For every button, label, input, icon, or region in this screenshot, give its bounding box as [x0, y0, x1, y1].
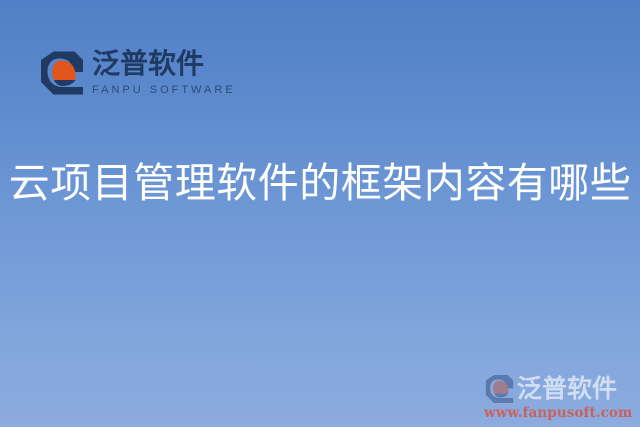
watermark: 泛普软件 www.fanpusoft.com [484, 374, 630, 421]
page-title: 云项目管理软件的框架内容有哪些 [0, 157, 640, 209]
header-logo: 泛普软件 FANPU SOFTWARE [40, 48, 236, 97]
header-logo-text: 泛普软件 FANPU SOFTWARE [92, 48, 236, 97]
fanpu-logo-mark-icon [40, 50, 84, 96]
header-brand-name-cn: 泛普软件 [92, 48, 236, 80]
fanpu-logo-mark-watermark-icon [484, 374, 515, 404]
watermark-brand-name-cn: 泛普软件 [517, 375, 617, 403]
watermark-logo-row: 泛普软件 [484, 374, 630, 404]
watermark-url: www.fanpusoft.com [484, 405, 630, 421]
banner-image: 泛普软件 FANPU SOFTWARE 云项目管理软件的框架内容有哪些 泛普软件… [0, 0, 640, 427]
header-brand-name-en: FANPU SOFTWARE [92, 83, 236, 97]
